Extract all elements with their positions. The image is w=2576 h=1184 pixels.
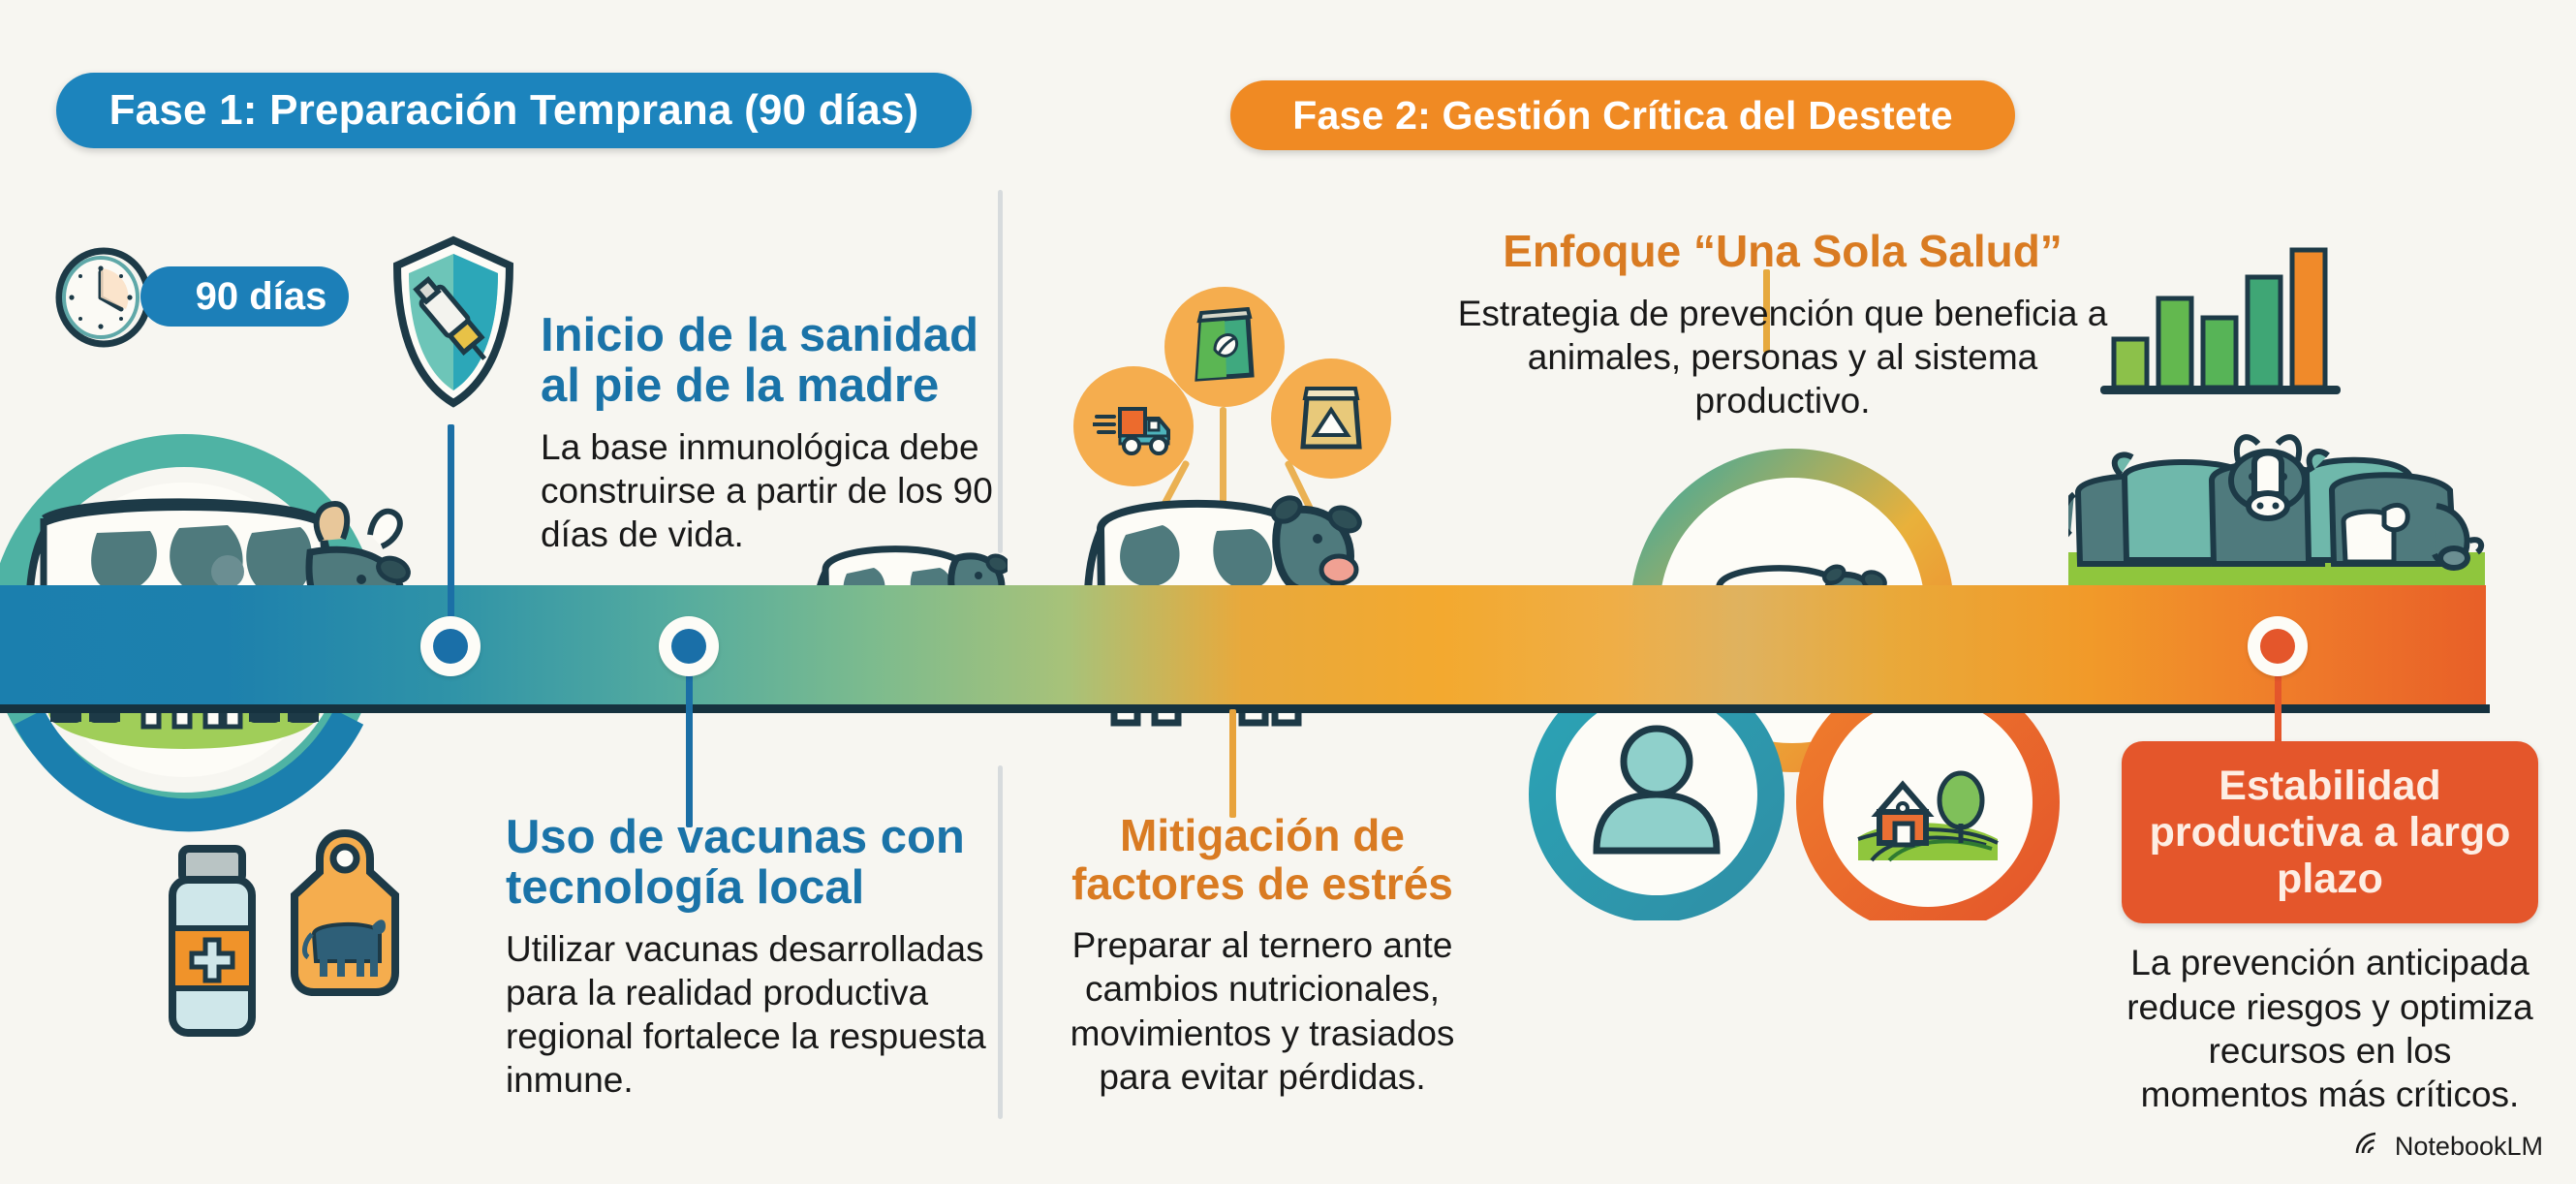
phase-divider-bottom [998,765,1003,1119]
phase-badge-1: Fase 1: Preparación Temprana (90 días) [56,73,972,148]
timeline-node-1[interactable] [420,616,481,676]
watermark: NotebookLM [2354,1131,2543,1163]
ear-tag-icon [279,826,411,1011]
feed-bag-green-icon [1164,287,1285,407]
timeline-node-2[interactable] [659,616,719,676]
shield-syringe-icon [386,233,521,417]
estabilidad-card: Estabilidad productiva a largo plazo [2122,741,2538,923]
block-estabilidad-body: La prevención anticipada reduce riesgos … [2122,941,2538,1116]
block-estabilidad: Estabilidad productiva a largo plazo La … [2122,741,2538,1116]
phase-badge-2-label: Fase 2: Gestión Crítica del Destete [1292,93,1952,139]
block-sanidad: Inicio de la sanidad al pie de la madre … [541,310,996,556]
block-una-sola-salud-body: Estrategia de prevención que beneficia a… [1453,292,2112,422]
block-sanidad-body: La base inmunológica debe construirse a … [541,425,996,556]
block-vacunas-title: Uso de vacunas con tecnología local [506,812,990,914]
timeline-baseline [0,704,2490,713]
phase-badge-1-label: Fase 1: Preparación Temprana (90 días) [109,86,919,135]
infographic-canvas: Fase 1: Preparación Temprana (90 días) F… [0,0,2576,1184]
block-sanidad-title: Inicio de la sanidad al pie de la madre [541,310,996,412]
vaccine-vial-icon [155,835,271,1053]
time-pill: 90 días [140,266,349,327]
phase-divider-top [998,190,1003,553]
block-estres-title: Mitigación de factores de estrés [1035,812,1490,908]
block-una-sola-salud: Enfoque “Una Sola Salud” Estrategia de p… [1453,228,2112,422]
block-estres: Mitigación de factores de estrés Prepara… [1035,812,1490,1099]
block-vacunas-body: Utilizar vacunas desarrolladas para la r… [506,927,990,1103]
cattle-herd-illustration [2068,417,2485,601]
watermark-label: NotebookLM [2395,1132,2543,1162]
time-pill-label: 90 días [196,275,327,319]
connector-stem-estres [1229,709,1236,818]
connector-stem-sanidad [448,424,454,618]
timeline-bar [0,585,2486,709]
block-una-sola-salud-title: Enfoque “Una Sola Salud” [1453,228,2112,276]
block-estres-body: Preparar al ternero ante cambios nutrici… [1035,923,1490,1099]
growth-chart-icon [2093,242,2383,412]
block-vacunas: Uso de vacunas con tecnología local Util… [506,812,990,1102]
notebooklm-icon [2354,1131,2383,1163]
timeline-node-3[interactable] [2248,616,2308,676]
phase-badge-2: Fase 2: Gestión Crítica del Destete [1230,80,2015,150]
